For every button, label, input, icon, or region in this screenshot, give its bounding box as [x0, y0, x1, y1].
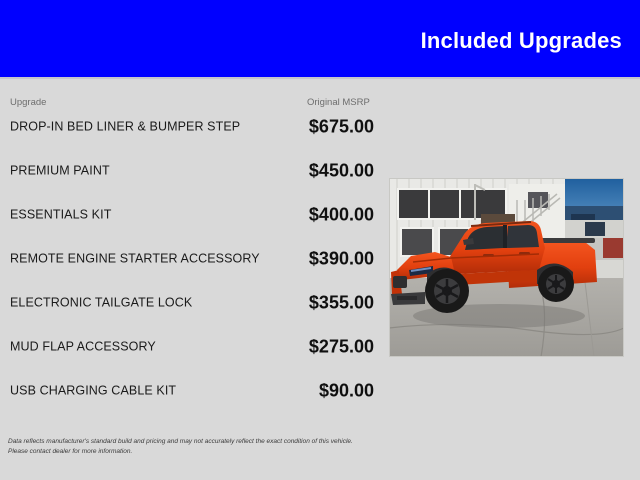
upgrade-name: DROP-IN BED LINER & BUMPER STEP: [10, 120, 285, 135]
upgrade-name: ELECTRONIC TAILGATE LOCK: [10, 296, 285, 311]
upgrade-price: $275.00: [309, 337, 374, 358]
upgrade-price: $400.00: [309, 205, 374, 226]
upgrade-name: ESSENTIALS KIT: [10, 208, 285, 223]
upgrade-name: REMOTE ENGINE STARTER ACCESSORY: [10, 252, 285, 267]
vehicle-photo: [389, 178, 624, 357]
table-row: DROP-IN BED LINER & BUMPER STEP $675.00: [0, 105, 640, 149]
upgrade-price: $450.00: [309, 161, 374, 182]
table-row: USB CHARGING CABLE KIT $90.00: [0, 369, 640, 413]
upgrade-name: MUD FLAP ACCESSORY: [10, 340, 285, 355]
upgrade-price: $390.00: [309, 249, 374, 270]
upgrade-price: $355.00: [309, 293, 374, 314]
table-header-row: Upgrade Original MSRP: [0, 79, 640, 105]
disclaimer-line-2: Please contact dealer for more informati…: [8, 447, 388, 457]
header-banner: Included Upgrades: [0, 0, 640, 77]
disclaimer-text: Data reflects manufacturer's standard bu…: [8, 437, 388, 456]
upgrade-name: USB CHARGING CABLE KIT: [10, 384, 285, 399]
upgrade-price: $90.00: [319, 381, 374, 402]
disclaimer-line-1: Data reflects manufacturer's standard bu…: [8, 437, 388, 447]
page-title: Included Upgrades: [421, 28, 622, 54]
upgrade-name: PREMIUM PAINT: [10, 164, 285, 179]
upgrade-price: $675.00: [309, 117, 374, 138]
